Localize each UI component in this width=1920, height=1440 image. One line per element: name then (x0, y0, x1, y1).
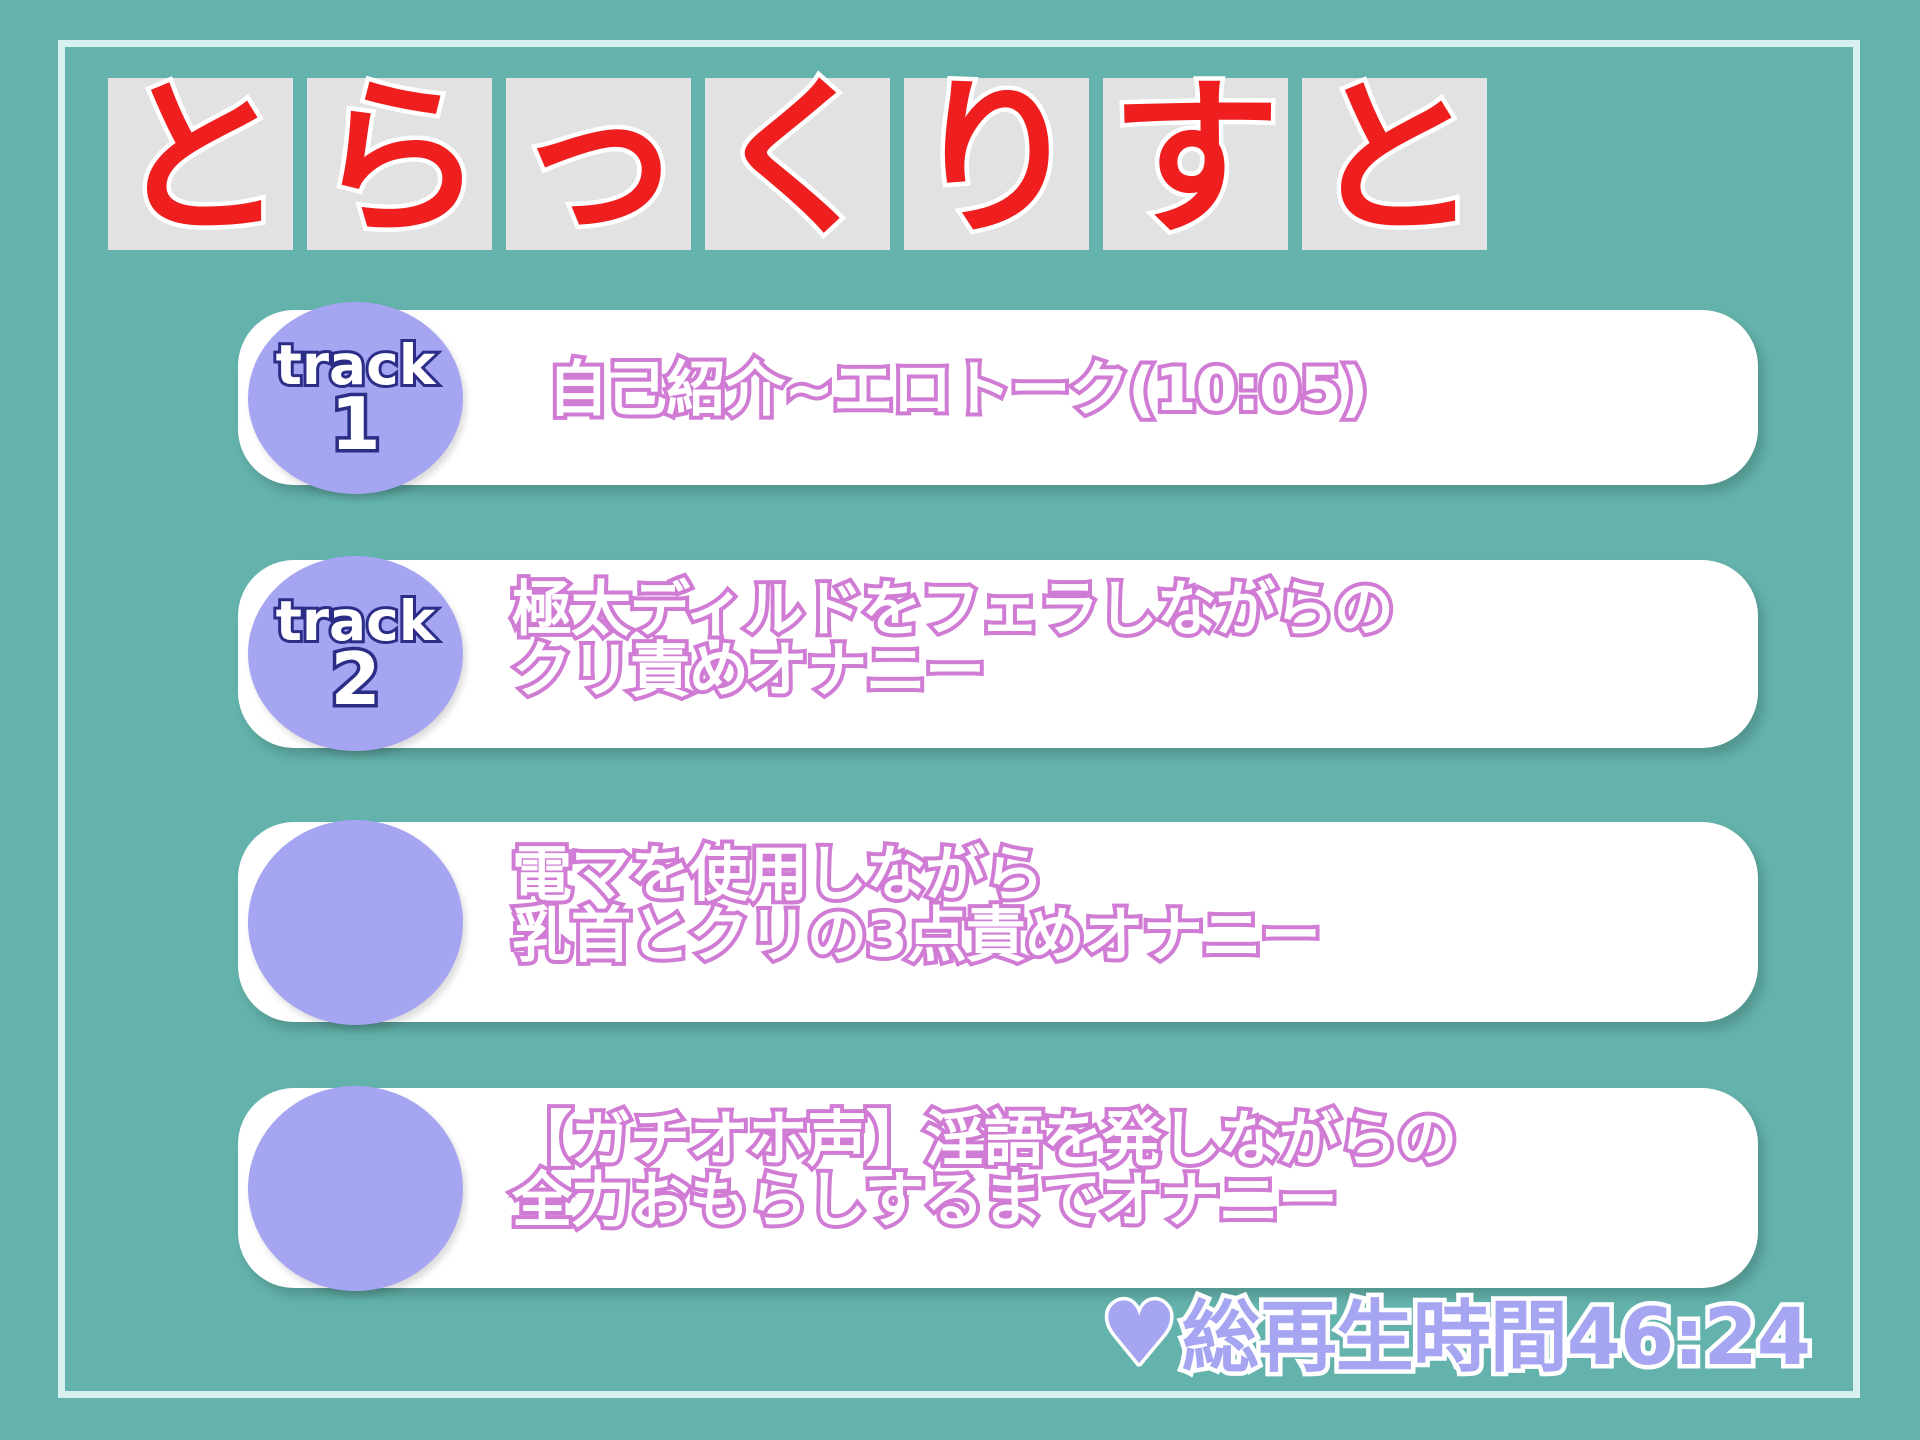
title-tile: っ (506, 78, 691, 250)
total-playtime-label: 総再生時間46:24 (1182, 1299, 1810, 1377)
track-badge-number: 2 (330, 647, 380, 712)
title-tile: ら (307, 78, 492, 250)
total-playtime: ♥ 総再生時間46:24 (1101, 1295, 1810, 1381)
title-char: ら (314, 75, 484, 245)
title-tile: す (1103, 78, 1288, 250)
track-badge: track 2 (248, 556, 463, 751)
title-tile: く (705, 78, 890, 250)
title-char: す (1110, 75, 1280, 245)
track-title: 電マを使用しながら 乳首とクリの3点責めオナニー (512, 845, 1742, 967)
title-char: と (1309, 75, 1479, 245)
track-badge-number: 1 (330, 392, 380, 457)
page-title: と ら っ く り す と (108, 78, 1487, 250)
title-char: く (712, 75, 882, 245)
title-char: り (911, 75, 1081, 245)
title-tile: と (108, 78, 293, 250)
title-char: と (115, 75, 285, 245)
title-char: っ (513, 75, 683, 245)
title-tile: り (904, 78, 1089, 250)
title-tile: と (1302, 78, 1487, 250)
track-badge: track 1 (248, 302, 463, 494)
track-title: 極太ディルドをフェラしながらの クリ責めオナニー (512, 580, 1732, 702)
track-badge (248, 1086, 463, 1291)
track-title: 自己紹介~エロトーク(10:05) (548, 360, 1728, 421)
track-badge (248, 820, 463, 1025)
track-title: 【ガチオホ声】淫語を発しながらの 全力おもらしするまでオナニー (512, 1110, 1752, 1232)
heart-icon: ♥ (1101, 1291, 1178, 1377)
